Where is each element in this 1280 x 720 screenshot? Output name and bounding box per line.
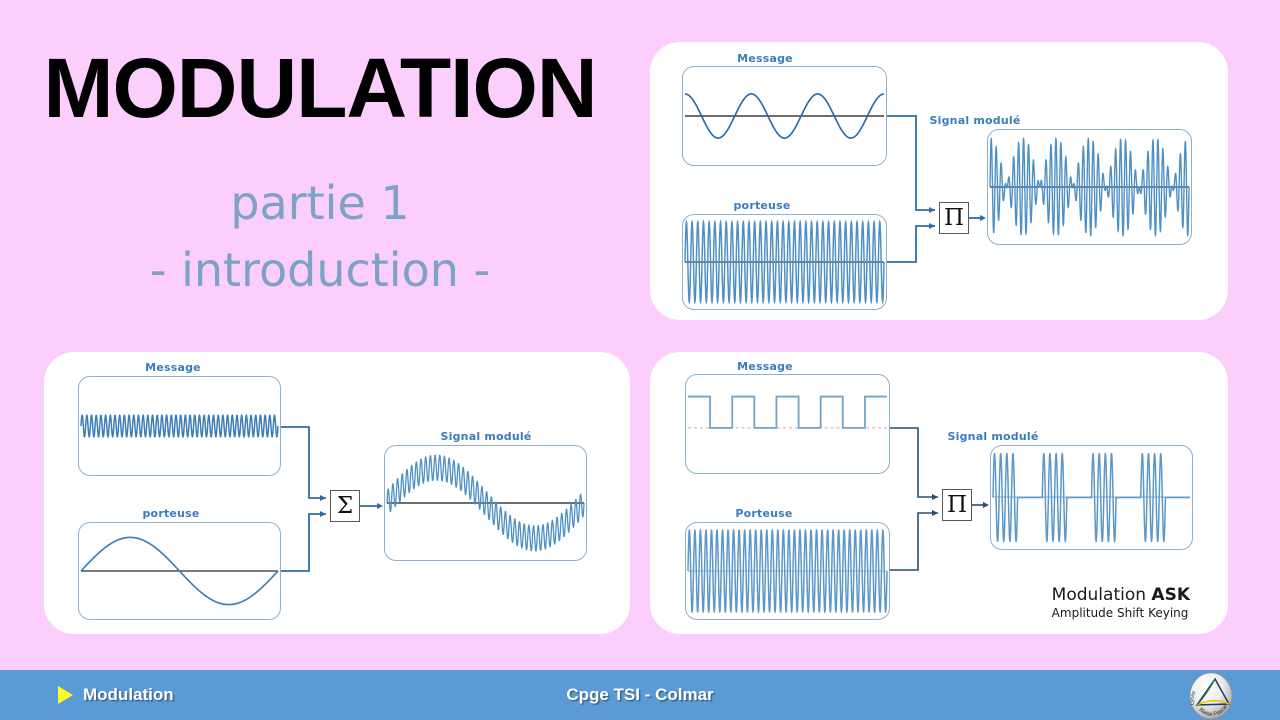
footer-left-label[interactable]: Modulation (83, 685, 174, 705)
subtitle-part: partie 1 (0, 170, 640, 237)
ask-message-plot (685, 374, 890, 474)
footer-bar: Cpge TSI - Colmar Modulation Lycée Blais… (0, 670, 1280, 720)
sum-adder-box: Σ (330, 490, 360, 522)
sum-output-plot (384, 445, 587, 561)
lycee-blaise-pascal-logo: Lycée Blaise Pascal (1184, 671, 1238, 720)
footer-center-label: Cpge TSI - Colmar (0, 670, 1280, 720)
am-message-label: Message (665, 52, 865, 65)
amplitude-modulation-diagram-card: Message porteuse Π Signal modulé (650, 42, 1228, 320)
ask-caption-title: Modulation ASK (1052, 585, 1190, 605)
ask-caption: Modulation ASK Amplitude Shift Keying (1052, 585, 1190, 620)
am-multiplier-box: Π (939, 202, 969, 234)
sum-carrier-label: porteuse (71, 507, 271, 520)
subtitle-section: - introduction - (0, 237, 640, 304)
am-output-plot (987, 129, 1192, 245)
ask-caption-subtitle: Amplitude Shift Keying (1052, 606, 1190, 620)
ask-carrier-label: Porteuse (664, 507, 864, 520)
sum-message-plot (78, 376, 281, 476)
sum-message-label: Message (73, 361, 273, 374)
play-triangle-icon[interactable] (58, 686, 73, 704)
sum-output-label: Signal modulé (386, 430, 586, 443)
sum-carrier-plot (78, 522, 281, 620)
am-output-label: Signal modulé (875, 114, 1075, 127)
ask-message-label: Message (665, 360, 865, 373)
ask-output-plot (990, 445, 1193, 550)
footer-left-group[interactable]: Modulation (58, 670, 174, 720)
ask-caption-acronym: ASK (1151, 585, 1190, 605)
am-message-plot (682, 66, 887, 166)
title-block: MODULATION partie 1 - introduction - (0, 44, 640, 304)
ask-caption-prefix: Modulation (1052, 585, 1152, 605)
summation-diagram-card: Message porteuse Σ Signal modulé (44, 352, 630, 634)
ask-modulation-diagram-card: Message Porteuse Π Signal modulé Modulat… (650, 352, 1228, 634)
ask-output-label: Signal modulé (893, 430, 1093, 443)
ask-multiplier-box: Π (942, 489, 972, 521)
am-carrier-label: porteuse (662, 199, 862, 212)
page-title: MODULATION (0, 44, 640, 132)
ask-carrier-plot (685, 522, 890, 620)
am-carrier-plot (682, 214, 887, 310)
